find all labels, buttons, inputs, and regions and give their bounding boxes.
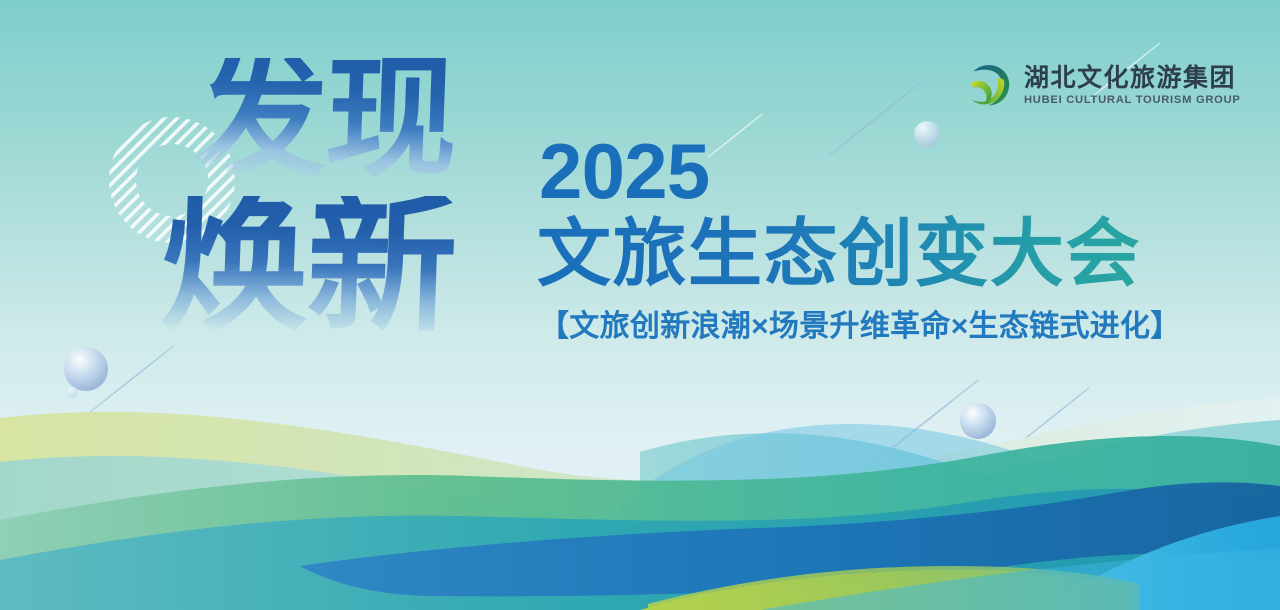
logo-text: 湖北文化旅游集团 HUBEI CULTURAL TOURISM GROUP [1024,65,1241,107]
brand-logo: 湖北文化旅游集团 HUBEI CULTURAL TOURISM GROUP [963,60,1241,112]
logo-name-en: HUBEI CULTURAL TOURISM GROUP [1024,94,1241,107]
sub-title: 【文旅创新浪潮×场景升维革命×生态链式进化】 [539,310,1237,343]
year-label: 2025 [539,132,1237,210]
conference-banner: 发现 焕新 [0,0,1280,610]
logo-name-cn: 湖北文化旅游集团 [1024,65,1241,92]
page-title: 文旅生态创变大会 [537,214,1237,294]
hubei-cultural-tourism-group-logo-icon [963,60,1015,112]
headline-block: 2025 文旅生态创变大会 【文旅创新浪潮×场景升维革命×生态链式进化】 [537,132,1237,343]
